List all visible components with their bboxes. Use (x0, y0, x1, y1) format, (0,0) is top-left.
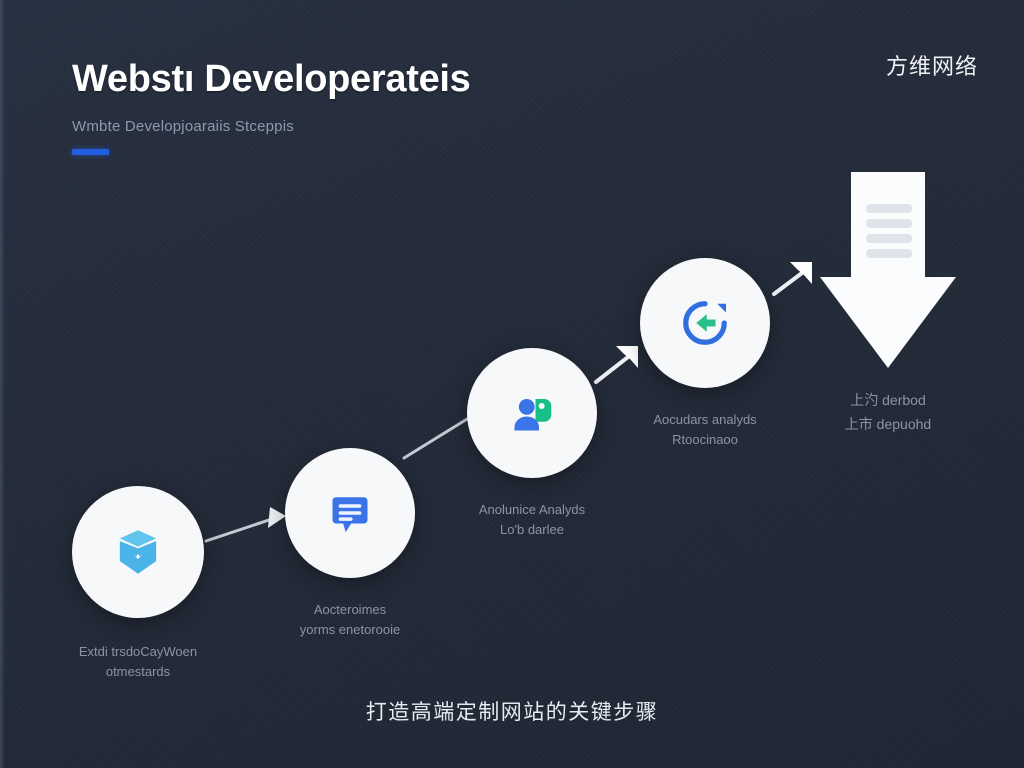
brand-logo-text: 方维网络 (886, 49, 978, 81)
audience-people-icon (504, 385, 560, 441)
bottom-caption: 打造高端定制网站的关键步骤 (0, 696, 1024, 726)
step-1-label: Extdi trsdoCayWoen otmestards (38, 642, 238, 682)
refresh-cycle-arrow-icon (677, 295, 733, 351)
download-document-arrow-icon[interactable] (818, 172, 958, 372)
slide-canvas: Webstı Developerateis Wmbte Developjoara… (0, 0, 1024, 768)
accent-underline-bar (72, 149, 109, 155)
step-4-label: Aocudars analyds Rtoocinaoo (595, 410, 815, 450)
page-subtitle: Wmbte Developjoaraiis Stceppis (72, 101, 692, 135)
package-box-icon (109, 523, 167, 581)
step-1-label-line1: Extdi trsdoCayWoen (79, 644, 197, 659)
final-step-label: 上汋 derbod 上市 depuohd (790, 388, 986, 436)
step-3-label: Anolunice Analyds Lo'b darlee (422, 500, 642, 540)
chat-bubble-icon (322, 485, 378, 541)
step-2-label-line2: yorms enetorooie (240, 620, 460, 640)
page-title: Webstı Developerateis (72, 58, 692, 101)
final-label-line2: 上市 depuohd (845, 416, 931, 432)
step-3-label-line2: Lo'b darlee (422, 520, 642, 540)
step-4-circle[interactable] (640, 258, 770, 388)
step-node-1[interactable]: Extdi trsdoCayWoen otmestards (72, 486, 204, 618)
step-3-label-line1: Anolunice Analyds (479, 502, 585, 517)
step-4-label-line2: Rtoocinaoo (595, 430, 815, 450)
header-block: Webstı Developerateis Wmbte Developjoara… (72, 58, 692, 155)
step-1-circle[interactable] (72, 486, 204, 618)
step-2-label-line1: Aocteroimes (314, 602, 386, 617)
step-node-3[interactable]: Anolunice Analyds Lo'b darlee (467, 348, 597, 478)
step-2-circle[interactable] (285, 448, 415, 578)
step-1-label-line2: otmestards (38, 662, 238, 682)
step-2-label: Aocteroimes yorms enetorooie (240, 600, 460, 640)
step-node-4[interactable]: Aocudars analyds Rtoocinaoo (640, 258, 770, 388)
step-3-circle[interactable] (467, 348, 597, 478)
final-label-line1: 上汋 derbod (850, 392, 925, 408)
step-4-label-line1: Aocudars analyds (653, 412, 756, 427)
step-node-2[interactable]: Aocteroimes yorms enetorooie (285, 448, 415, 578)
